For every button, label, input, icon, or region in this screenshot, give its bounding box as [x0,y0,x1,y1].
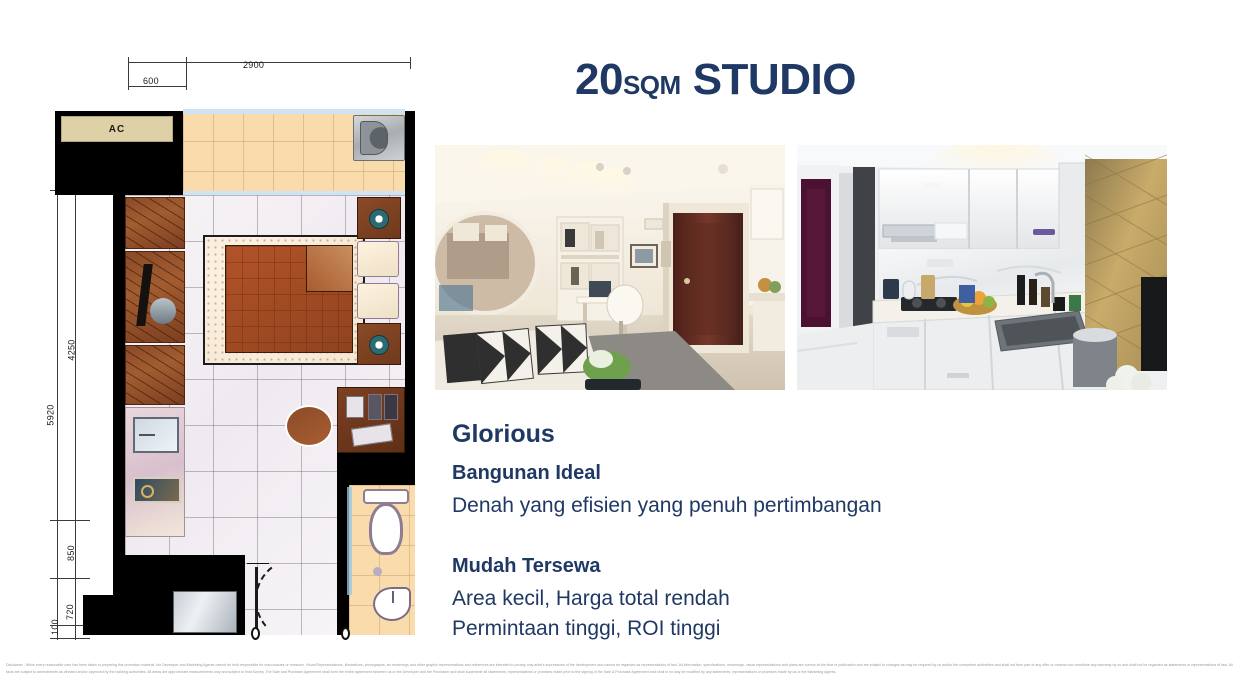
floor-drain-icon [373,567,382,576]
living-area-photo-art [435,145,785,390]
living-area-photo [435,145,785,390]
desk [337,387,405,453]
paper-icon [351,423,393,446]
dim-line-600 [128,86,186,87]
dim-line-2900 [128,62,410,63]
wall-left-inner [113,195,125,555]
kitchen-photo-art [797,145,1167,390]
pillow [357,283,399,319]
page-title: 20SQMSTUDIO [575,55,856,105]
body-mudah-tersewa-line1: Area kecil, Harga total rendah [452,587,730,611]
toilet-icon [369,503,403,555]
disclaimer-text: Disclaimer : While every reasonable care… [6,662,1241,675]
accent-chair [285,405,333,447]
wardrobe-lower [125,345,185,405]
pillow [357,241,399,277]
dim-tick [186,60,187,90]
floor-plan: 2900 600 5920 4250 850 720 100 AC [0,0,430,660]
faucet-icon [392,591,394,603]
subheading-mudah-tersewa: Mudah Tersewa [452,555,601,578]
shower-screen [347,487,352,595]
body-bangunan-ideal: Denah yang efisien yang penuh pertimbang… [452,494,882,518]
dim-tick [410,57,411,69]
lamp-icon [369,335,389,355]
toilet-tank-icon [363,489,409,504]
wardrobe-knob-icon [150,298,176,324]
desk-item-icon [346,396,364,418]
door-jamb [247,563,269,564]
wardrobe-grain-icon [126,198,184,248]
subheading-bangunan-ideal: Bangunan Ideal [452,462,601,485]
title-unit: SQM [623,70,681,100]
mirror-detail-icon [139,434,155,436]
wall-art-icon [133,477,181,503]
dim-label-600: 600 [143,76,159,86]
wardrobe-grain-icon [126,346,184,404]
bed [225,245,353,353]
section-heading-glorious: Glorious [452,420,555,449]
wardrobe-grain-icon [126,252,184,342]
lamp-icon [369,209,389,229]
title-word: STUDIO [693,55,856,104]
kitchen-photo [797,145,1167,390]
laptop-icon [368,394,382,420]
monitor-icon [384,394,398,420]
microwave-icon [353,115,405,161]
ac-unit: AC [61,116,173,142]
floor-plan-body: AC [55,105,415,640]
dim-label-2900: 2900 [243,60,264,70]
sink-icon [373,587,411,621]
slide-root: 2900 600 5920 4250 850 720 100 AC [0,0,1245,700]
door-stop-icon [341,627,350,640]
body-mudah-tersewa-line2: Permintaan tinggi, ROI tinggi [452,617,720,641]
vanity-mirror [133,417,179,453]
wardrobe-mid [125,251,185,343]
bed-fold-icon [306,246,352,292]
wardrobe-upper [125,197,185,249]
kitchen-counter [183,109,405,114]
title-number: 20 [575,55,623,104]
entry-glass-door [173,591,237,633]
dim-tick [128,60,129,90]
door-hinge-icon [251,627,260,640]
